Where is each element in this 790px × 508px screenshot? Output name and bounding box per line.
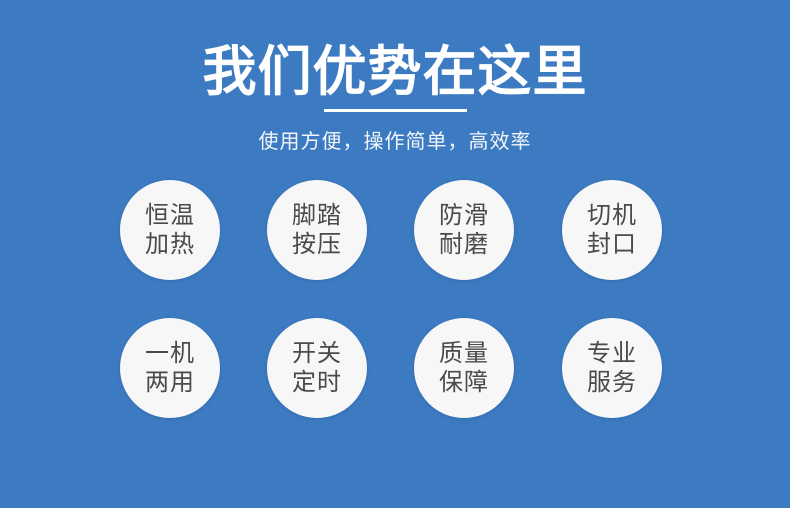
feature-circle[interactable]: 切机 封口 <box>562 180 662 280</box>
feature-circle[interactable]: 脚踏 按压 <box>267 180 367 280</box>
feature-label-line-2: 按压 <box>292 230 342 259</box>
feature-row: 一机 两用 开关 定时 质量 保障 专业 服务 <box>120 318 670 456</box>
feature-label-line-2: 保障 <box>439 368 489 397</box>
promo-banner: 我们优势在这里 使用方便，操作简单，高效率 恒温 加热 脚踏 按压 防滑 耐磨 … <box>0 0 790 508</box>
feature-label-line-2: 加热 <box>145 230 195 259</box>
feature-label-line-2: 封口 <box>587 230 637 259</box>
feature-label-line-2: 两用 <box>145 368 195 397</box>
feature-row: 恒温 加热 脚踏 按压 防滑 耐磨 切机 封口 <box>120 180 670 318</box>
feature-circle[interactable]: 一机 两用 <box>120 318 220 418</box>
feature-label-line-1: 防滑 <box>439 201 489 230</box>
page-subtitle: 使用方便，操作简单，高效率 <box>0 129 790 155</box>
feature-label-line-2: 服务 <box>587 368 637 397</box>
feature-circle[interactable]: 专业 服务 <box>562 318 662 418</box>
feature-circle[interactable]: 防滑 耐磨 <box>414 180 514 280</box>
feature-label-line-1: 一机 <box>145 339 195 368</box>
feature-label-line-1: 脚踏 <box>292 201 342 230</box>
feature-circle[interactable]: 质量 保障 <box>414 318 514 418</box>
feature-circle[interactable]: 恒温 加热 <box>120 180 220 280</box>
title-underline-divider <box>324 109 467 112</box>
feature-label-line-1: 恒温 <box>145 201 195 230</box>
feature-label-line-2: 耐磨 <box>439 230 489 259</box>
feature-circle-grid: 恒温 加热 脚踏 按压 防滑 耐磨 切机 封口 一机 两用 开关 <box>120 180 670 456</box>
feature-label-line-1: 专业 <box>587 339 637 368</box>
feature-label-line-1: 切机 <box>587 201 637 230</box>
feature-label-line-1: 质量 <box>439 339 489 368</box>
feature-label-line-1: 开关 <box>292 339 342 368</box>
page-title: 我们优势在这里 <box>0 42 790 102</box>
feature-circle[interactable]: 开关 定时 <box>267 318 367 418</box>
feature-label-line-2: 定时 <box>292 368 342 397</box>
